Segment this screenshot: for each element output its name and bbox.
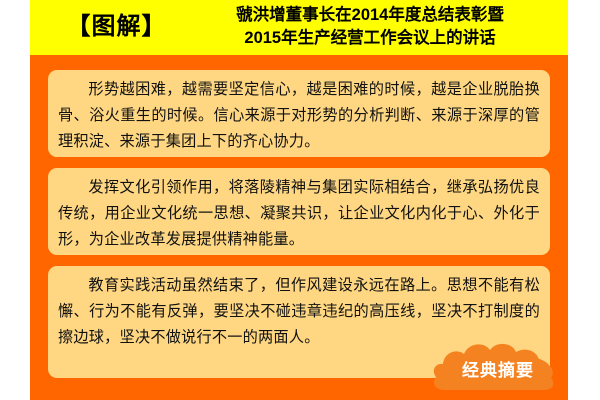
slide-body: 形势越困难，越需要坚定信心，越是困难的时候，越是企业脱胎换骨、浴火重生的时候。信…	[30, 55, 568, 400]
cloud-shape-icon	[432, 340, 564, 396]
slide-header: 【图解】 虢洪增董事长在2014年度总结表彰暨 2015年生产经营工作会议上的讲…	[30, 0, 568, 55]
title-line-1: 虢洪增董事长在2014年度总结表彰暨	[180, 4, 560, 27]
slide-canvas: 【图解】 虢洪增董事长在2014年度总结表彰暨 2015年生产经营工作会议上的讲…	[30, 0, 568, 400]
page-title: 虢洪增董事长在2014年度总结表彰暨 2015年生产经营工作会议上的讲话	[180, 4, 560, 50]
quote-card: 形势越困难，越需要坚定信心，越是困难的时候，越是企业脱胎换骨、浴火重生的时候。信…	[48, 70, 550, 157]
header-bracket-label: 【图解】	[54, 10, 179, 44]
quote-card: 发挥文化引领作用，将落陵精神与集团实际相结合，继承弘扬优良传统，用企业文化统一思…	[48, 168, 550, 255]
title-line-2: 2015年生产经营工作会议上的讲话	[180, 27, 560, 50]
classic-excerpt-badge: 经典摘要	[432, 340, 564, 396]
quote-text: 发挥文化引领作用，将落陵精神与集团实际相结合，继承弘扬优良传统，用企业文化统一思…	[58, 175, 540, 253]
quote-text: 形势越困难，越需要坚定信心，越是困难的时候，越是企业脱胎换骨、浴火重生的时候。信…	[58, 77, 540, 155]
